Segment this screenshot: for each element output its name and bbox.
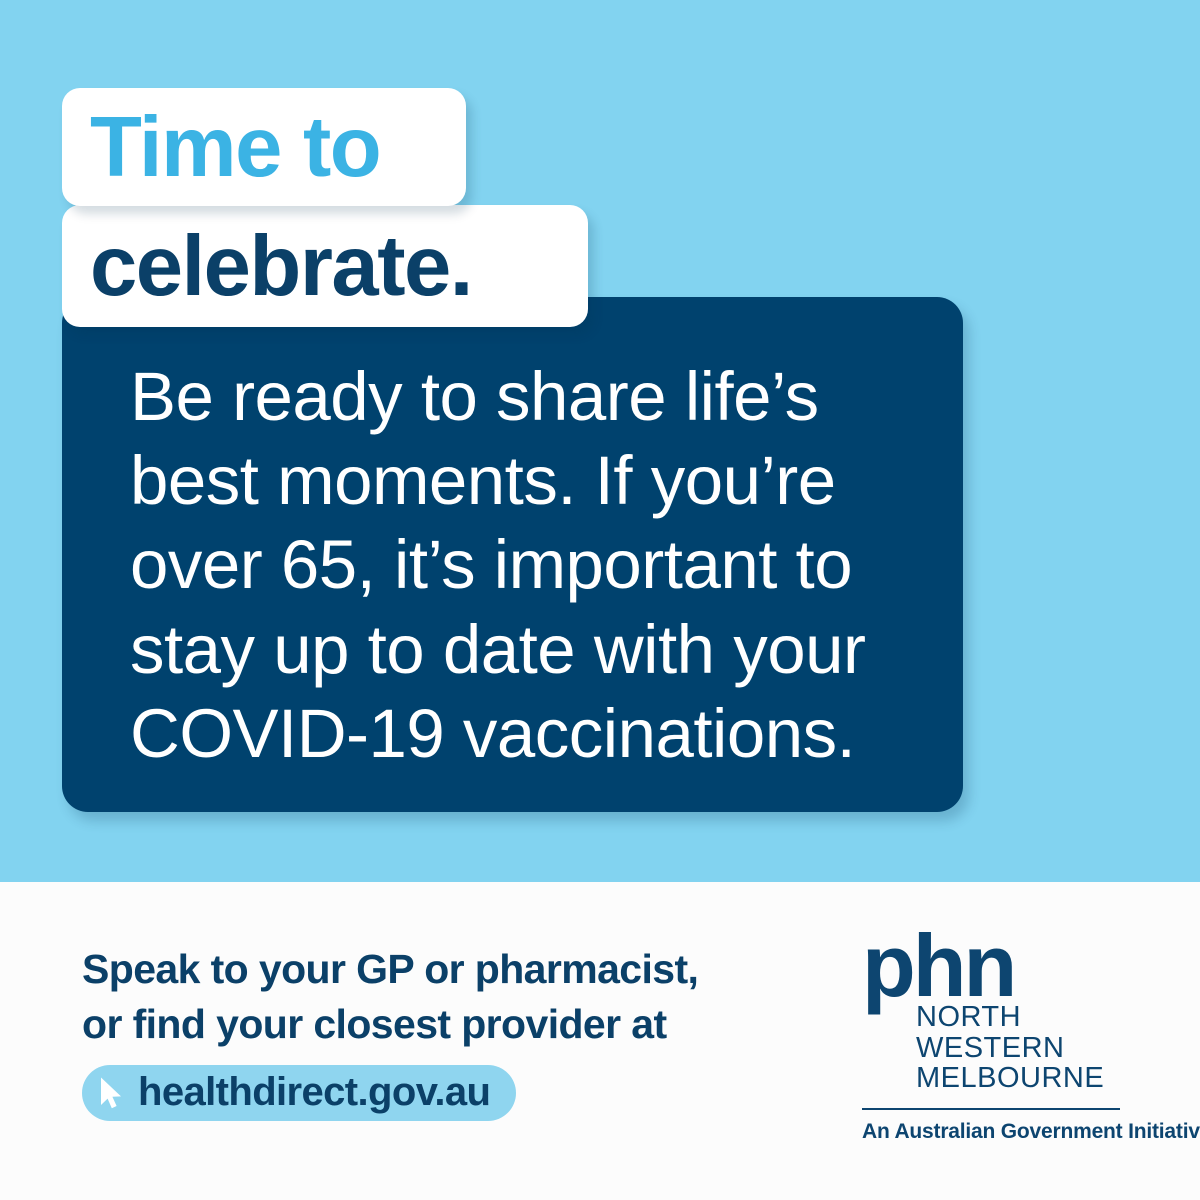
cta-line-1: Speak to your GP or pharmacist, (82, 942, 782, 997)
message-card: Be ready to share life’s best moments. I… (62, 297, 963, 812)
phn-divider (862, 1108, 1120, 1110)
cta-line-2: or find your closest provider at (82, 997, 782, 1052)
message-body-text: Be ready to share life’s best moments. I… (130, 355, 923, 776)
phn-region-line-1: NORTH WESTERN (916, 1002, 1128, 1063)
phn-region-line-2: MELBOURNE (916, 1063, 1128, 1094)
phn-tagline: An Australian Government Initiative (862, 1120, 1128, 1144)
headline-panel-secondary: celebrate. (62, 205, 588, 327)
footer-band: Speak to your GP or pharmacist, or find … (0, 882, 1200, 1200)
phn-region-block: NORTH WESTERN MELBOURNE (916, 1002, 1128, 1094)
headline-line-1: Time to (90, 105, 380, 190)
footer-cta-block: Speak to your GP or pharmacist, or find … (82, 942, 782, 1121)
headline-panel-primary: Time to (62, 88, 466, 206)
phn-logo: phn NORTH WESTERN MELBOURNE An Australia… (858, 930, 1128, 1144)
headline-line-2: celebrate. (90, 224, 472, 309)
campaign-poster: Time to celebrate. Be ready to share lif… (0, 0, 1200, 1200)
healthdirect-url-text: healthdirect.gov.au (138, 1070, 490, 1115)
phn-wordmark: phn (862, 930, 1128, 1006)
healthdirect-url-pill[interactable]: healthdirect.gov.au (82, 1065, 516, 1121)
cursor-pointer-icon (98, 1076, 124, 1110)
